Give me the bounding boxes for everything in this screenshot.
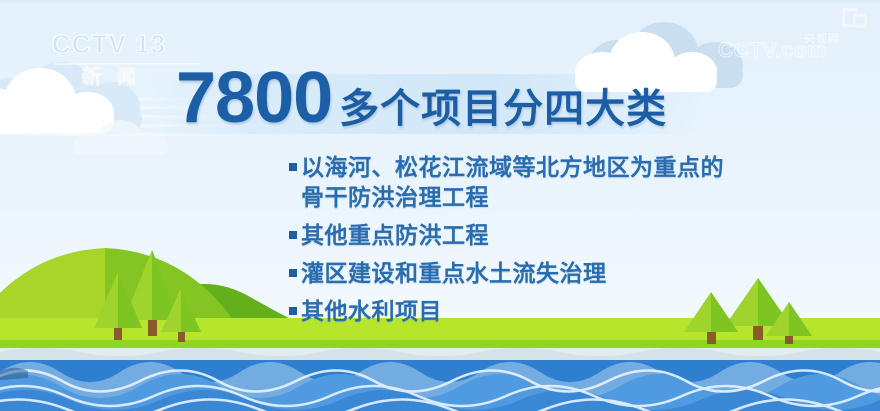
list-item-line1: 以海河、松花江流域等北方地区为重点的 — [301, 154, 724, 180]
list-item-label: 灌区建设和重点水土流失治理 — [301, 258, 607, 288]
channel-logo-subtitle: 新闻 — [82, 66, 182, 90]
list-item: 灌区建设和重点水土流失治理 — [289, 258, 759, 288]
list-item: 其他重点防洪工程 — [289, 220, 759, 250]
water-wave-mid — [0, 374, 880, 411]
cloud-small — [74, 120, 170, 154]
water-wave-front — [0, 390, 880, 411]
shoreline-band — [0, 348, 880, 364]
rounded-square-icon — [842, 8, 864, 28]
headline-text: 多个项目分四大类 — [339, 71, 667, 147]
watermark-chinese-text: 央视网 — [804, 32, 840, 46]
wave-crest-lines — [0, 371, 880, 411]
cloud-front — [74, 120, 170, 154]
water-base — [0, 360, 880, 411]
cloud-base — [74, 142, 168, 154]
list-item-label: 其他水利项目 — [301, 296, 442, 326]
bullet-square-icon — [289, 269, 297, 277]
water-edge-accent — [0, 368, 28, 380]
icon-shape-right — [853, 14, 867, 28]
water-body — [0, 360, 880, 411]
list-item-label: 以海河、松花江流域等北方地区为重点的骨干防洪治理工程 — [301, 152, 724, 212]
shoreline-ripple — [0, 348, 880, 364]
grass-strip-shadow — [0, 340, 880, 350]
bullet-square-icon — [289, 231, 297, 239]
category-list: 以海河、松花江流域等北方地区为重点的骨干防洪治理工程 其他重点防洪工程 灌区建设… — [289, 152, 759, 334]
top-border-line — [0, 0, 880, 2]
headline-number: 7800 — [176, 60, 332, 136]
channel-logo-text: CCTV 13 — [52, 28, 202, 60]
news-graphic-stage: CCTV 13 新闻 CCTV.com 央视网 — [0, 0, 880, 411]
page-title: 7800 多个项目分四大类 — [176, 60, 667, 136]
water-wave-back — [0, 362, 880, 411]
list-item-label: 其他重点防洪工程 — [301, 220, 489, 250]
list-item: 其他水利项目 — [289, 296, 759, 326]
cctv-com-watermark: CCTV.com 央视网 — [718, 38, 858, 64]
bullet-square-icon — [289, 163, 297, 171]
list-item-line2: 骨干防洪治理工程 — [301, 184, 489, 210]
bullet-square-icon — [289, 307, 297, 315]
list-item: 以海河、松花江流域等北方地区为重点的骨干防洪治理工程 — [289, 152, 759, 212]
